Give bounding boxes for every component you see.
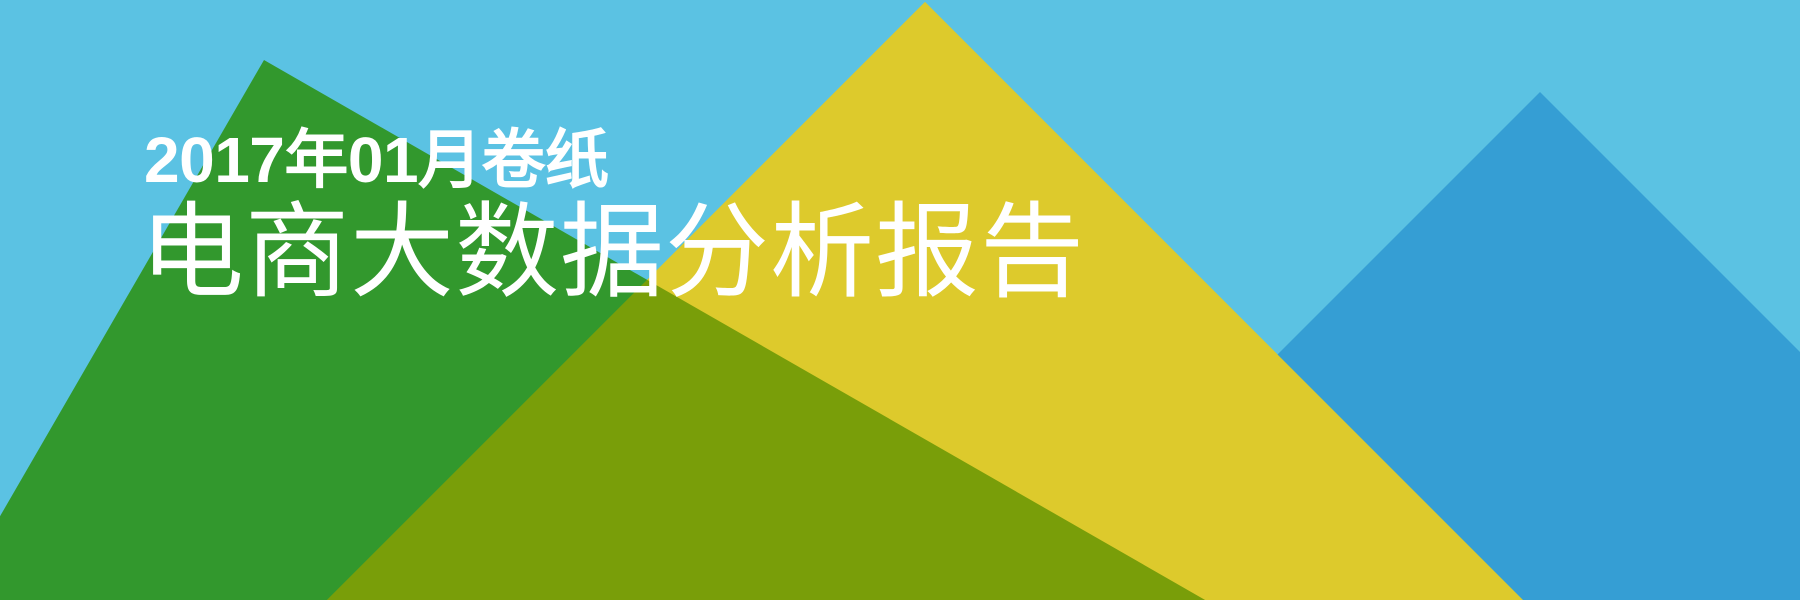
page-subtitle-period: 2017年01月卷纸 [144, 128, 1085, 193]
page-title: 电商大数据分析报告 [140, 199, 1085, 308]
title-block: 2017年01月卷纸 电商大数据分析报告 [140, 128, 1085, 308]
cover-slide: 2017年01月卷纸 电商大数据分析报告 [0, 0, 1800, 600]
